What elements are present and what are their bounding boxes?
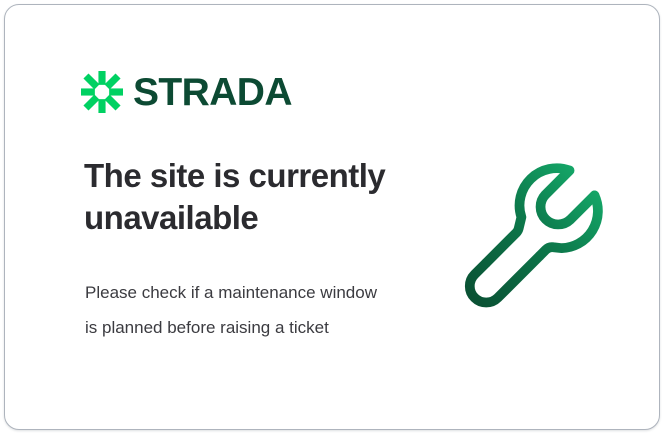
maintenance-page: STRADA The site is currently unavailable… (0, 0, 666, 436)
strada-asterisk-icon (81, 71, 123, 113)
wrench-icon (460, 160, 612, 312)
brand-wordmark: STRADA (133, 73, 292, 112)
page-description: Please check if a maintenance window is … (85, 275, 385, 346)
page-title: The site is currently unavailable (84, 155, 424, 239)
brand-logo: STRADA (81, 71, 292, 113)
status-card: STRADA The site is currently unavailable… (4, 4, 660, 430)
